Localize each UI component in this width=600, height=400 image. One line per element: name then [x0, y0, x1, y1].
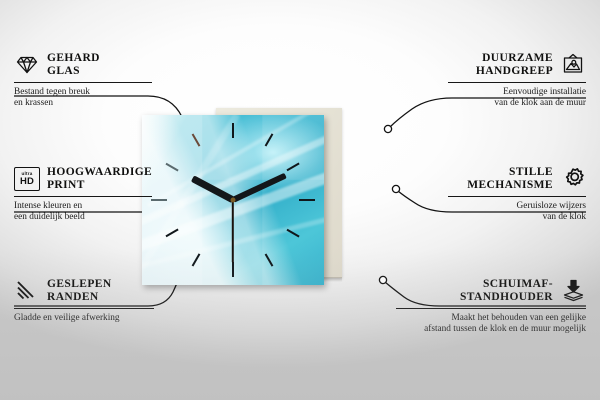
feature-schuimafstandhouder: SCHUIMAF-STANDHOUDER Maakt het behouden … — [396, 278, 586, 336]
clock-center-pivot — [231, 198, 236, 203]
clock-tick — [232, 123, 234, 138]
feature-description: Intense kleuren eneen duidelijk beeld — [14, 201, 152, 224]
product-image — [142, 103, 342, 288]
picture-frame-hook-icon — [560, 53, 586, 77]
feature-divider — [448, 82, 586, 83]
connector-dot-duurzame-handgreep — [384, 125, 391, 132]
feature-title: GEHARDGLAS — [47, 52, 100, 78]
feature-title: DUURZAMEHANDGREEP — [476, 52, 553, 78]
diamond-icon — [14, 53, 40, 77]
infographic-canvas: GEHARDGLAS Bestand tegen breuken krassen… — [0, 0, 600, 400]
feature-title: GESLEPENRANDEN — [47, 278, 112, 304]
connector-dot-schuimafstandhouder — [379, 276, 386, 283]
feature-description: Maakt het behouden van een gelijkeafstan… — [396, 313, 586, 336]
clock-tick — [232, 262, 234, 277]
feature-description: Bestand tegen breuken krassen — [14, 87, 152, 110]
clock-face — [142, 115, 324, 285]
feature-divider — [14, 82, 152, 83]
clock-tick — [299, 199, 315, 201]
clock-tick — [151, 199, 167, 201]
foam-spacer-arrow-icon — [560, 279, 586, 303]
feature-divider — [14, 308, 154, 309]
connector-dot-stille-mechanisme — [392, 185, 399, 192]
feature-title: HOOGWAARDIGEPRINT — [47, 166, 152, 192]
feature-title: SCHUIMAF-STANDHOUDER — [460, 278, 553, 304]
feature-title: STILLEMECHANISME — [467, 166, 553, 192]
feature-gehard-glas: GEHARDGLAS Bestand tegen breuken krassen — [14, 52, 152, 110]
feature-divider — [396, 308, 586, 309]
feature-description: Eenvoudige installatievan de klok aan de… — [448, 87, 586, 110]
feature-divider — [14, 196, 152, 197]
ultra-hd-icon-bottom-text: HD — [20, 177, 34, 187]
feature-hoogwaardige-print: ultra HD HOOGWAARDIGEPRINT Intense kleur… — [14, 166, 152, 224]
ultra-hd-icon: ultra HD — [14, 167, 40, 191]
feature-description: Geruisloze wijzersvan de klok — [448, 201, 586, 224]
diagonal-lines-icon — [14, 279, 40, 303]
feature-divider — [448, 196, 586, 197]
feature-stille-mechanisme: STILLEMECHANISME Geruisloze wijzersvan d… — [448, 166, 586, 224]
feature-duurzame-handgreep: DUURZAMEHANDGREEP Eenvoudige installatie… — [448, 52, 586, 110]
gear-icon — [560, 167, 586, 191]
feature-geslepen-randen: GESLEPENRANDEN Gladde en veilige afwerki… — [14, 278, 154, 324]
feature-description: Gladde en veilige afwerking — [14, 313, 154, 324]
clock-second-hand — [232, 200, 234, 262]
